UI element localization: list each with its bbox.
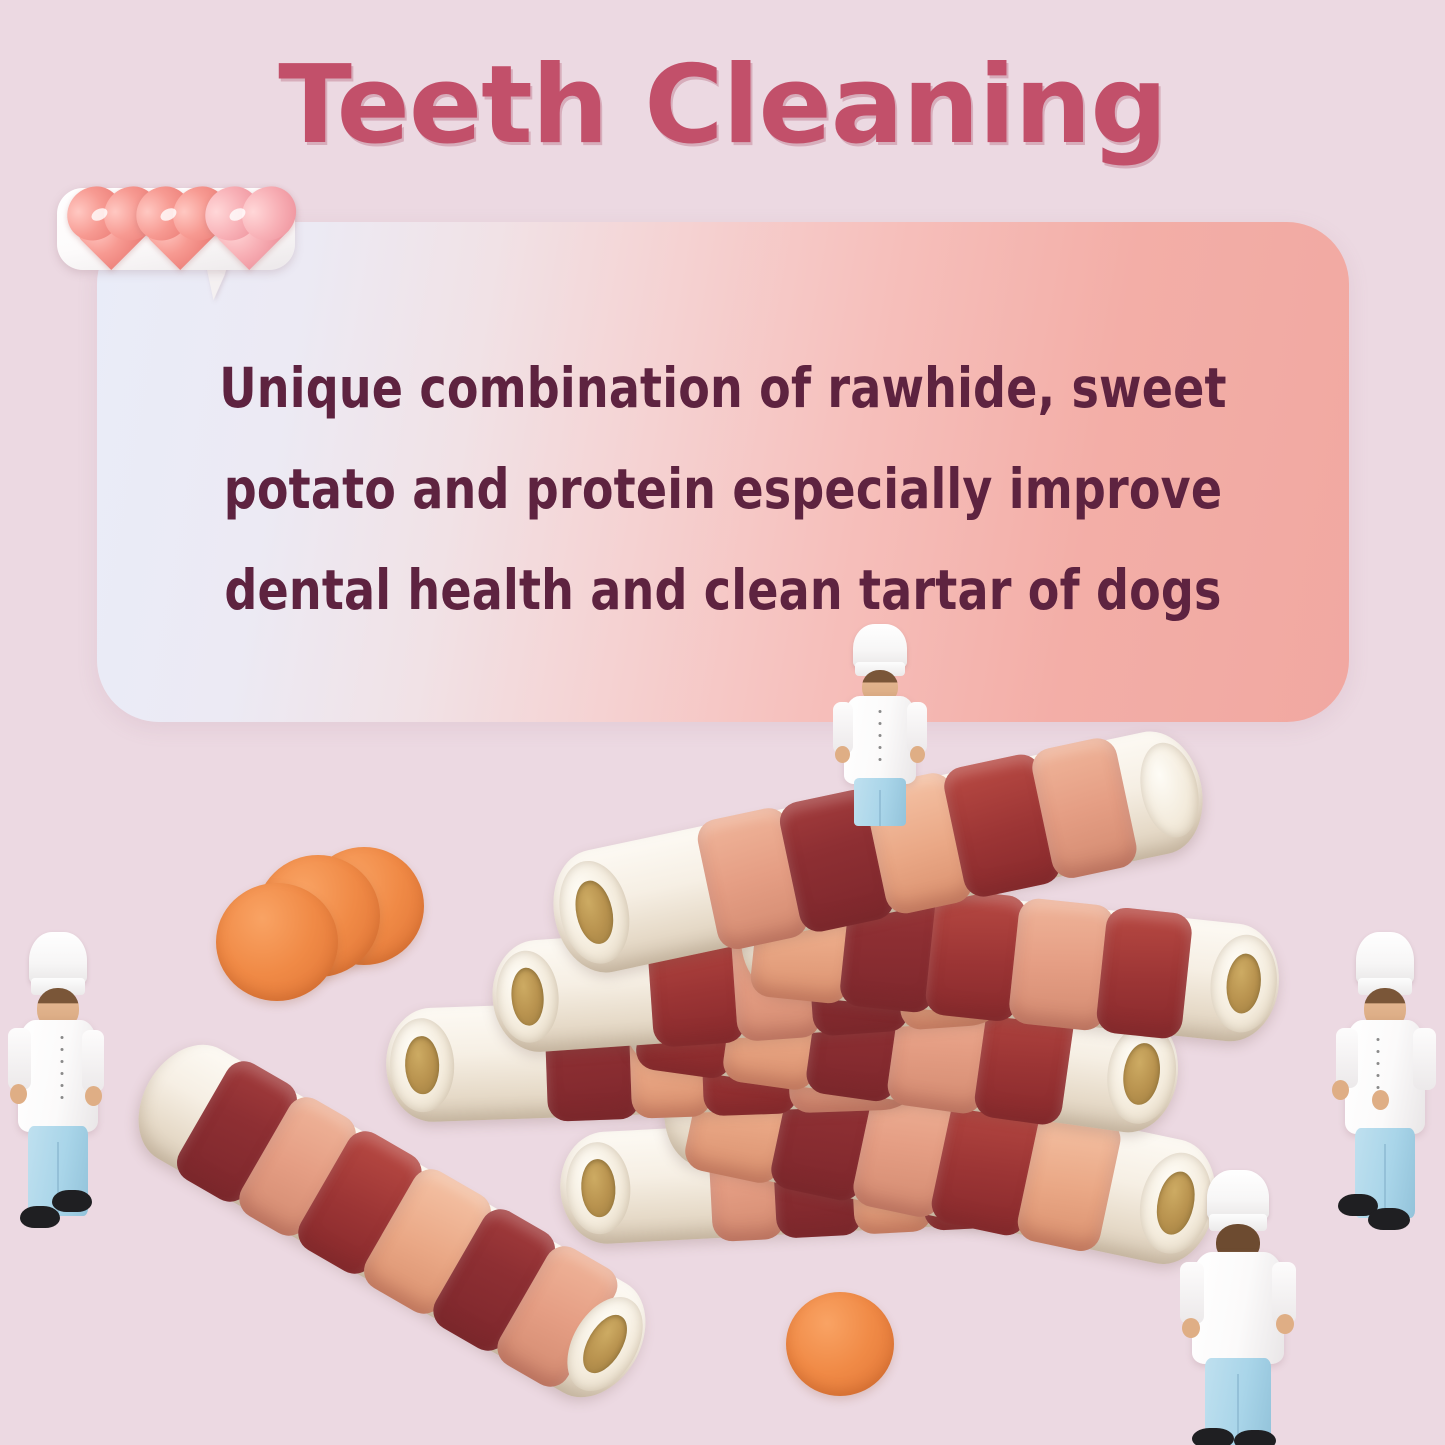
page-title: Teeth Cleaning: [0, 52, 1445, 160]
feature-card-text: Unique combination of rawhide, sweet pot…: [97, 338, 1349, 641]
chef-figurine-top: [825, 618, 935, 826]
sweet-potato-slice-group: [210, 845, 450, 1005]
feature-card: Unique combination of rawhide, sweet pot…: [97, 222, 1349, 722]
chef-figurine-right: [1328, 928, 1442, 1234]
heart-icon: [77, 200, 137, 258]
chef-figurine-left: [2, 928, 114, 1234]
sweet-potato-slice: [216, 883, 338, 1001]
feature-line-1: Unique combination of rawhide, sweet: [193, 338, 1253, 439]
feature-line-2: potato and protein especially improve: [193, 439, 1253, 540]
feature-line-3: dental health and clean tartar of dogs: [193, 540, 1253, 641]
heart-rating-bubble: [57, 188, 295, 270]
chef-figurine-bottom-right: [1168, 1166, 1308, 1445]
heart-icon: [146, 200, 206, 258]
infographic-canvas: Teeth Cleaning Unique combination of raw…: [0, 0, 1445, 1445]
sweet-potato-slice-single: [786, 1292, 894, 1396]
heart-icon: [215, 200, 275, 258]
